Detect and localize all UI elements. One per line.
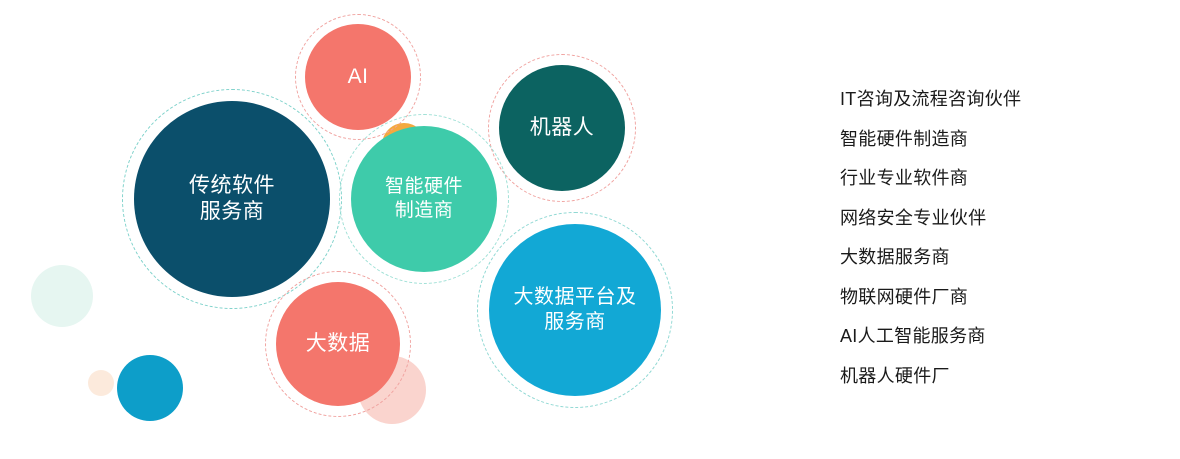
partner-list-item: 物联网硬件厂商: [840, 288, 1160, 306]
bubble-label-big-data-platform-and-service-provider: 大数据平台及 服务商: [489, 224, 661, 396]
partner-list-item: 智能硬件制造商: [840, 130, 1160, 148]
partner-list-item: 行业专业软件商: [840, 169, 1160, 187]
bubble-cluster: AI传统软件 服务商机器人智能硬件 制造商大数据大数据平台及 服务商: [0, 0, 760, 459]
partner-list-item: 大数据服务商: [840, 248, 1160, 266]
solid-blue-circle: [117, 355, 183, 421]
infographic-canvas: AI传统软件 服务商机器人智能硬件 制造商大数据大数据平台及 服务商 IT咨询及…: [0, 0, 1180, 459]
partner-list-item: 网络安全专业伙伴: [840, 209, 1160, 227]
partner-list-item: IT咨询及流程咨询伙伴: [840, 90, 1160, 108]
bubble-label-robot: 机器人: [499, 65, 625, 191]
partner-list-item: 机器人硬件厂: [840, 367, 1160, 385]
pale-mint-circle: [31, 265, 93, 327]
bubble-smart-hardware-manufacturer[interactable]: 智能硬件 制造商: [339, 114, 509, 284]
bubble-label-big-data: 大数据: [276, 282, 400, 406]
bubble-label-smart-hardware-manufacturer: 智能硬件 制造商: [351, 126, 497, 272]
bubble-big-data[interactable]: 大数据: [265, 271, 411, 417]
bubble-robot[interactable]: 机器人: [488, 54, 636, 202]
pale-peach-circle: [88, 370, 114, 396]
partner-list-item: AI人工智能服务商: [840, 327, 1160, 345]
partner-type-list: IT咨询及流程咨询伙伴智能硬件制造商行业专业软件商网络安全专业伙伴大数据服务商物…: [840, 90, 1160, 406]
